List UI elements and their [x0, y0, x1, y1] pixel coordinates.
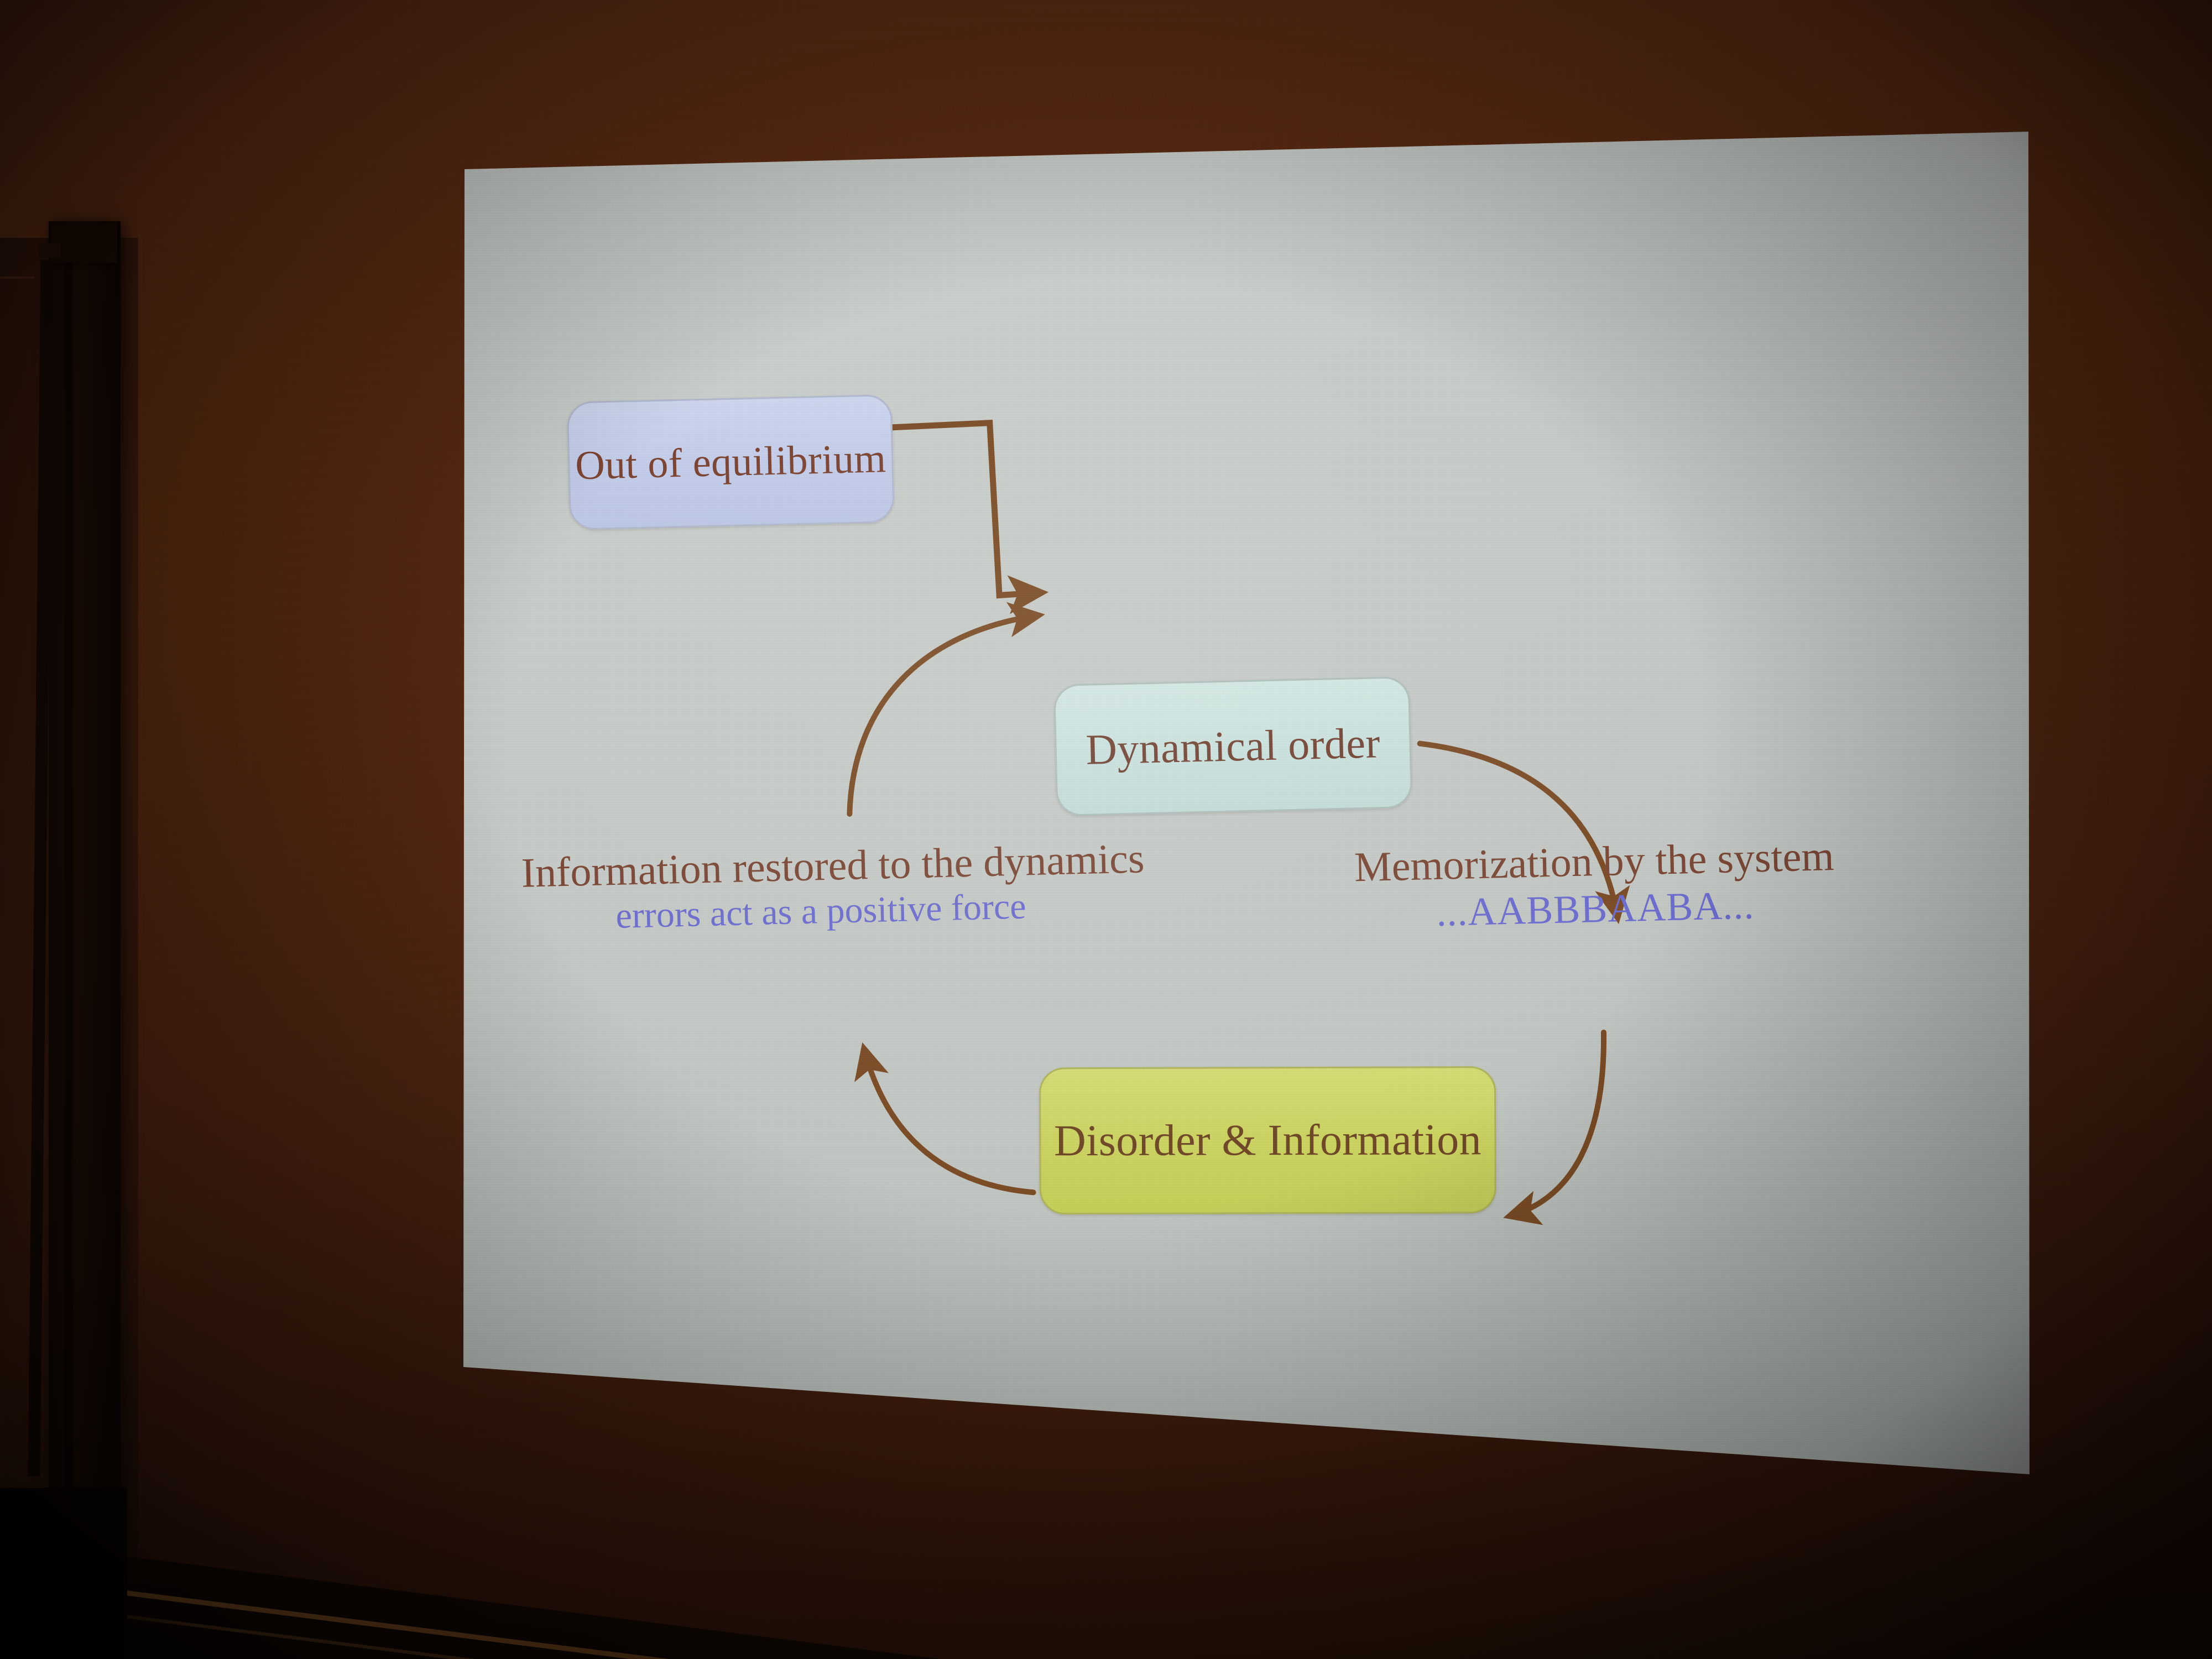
label-memorization: Memorization by the system ...AABBBAABA.… — [1301, 831, 1889, 938]
wall-bracket — [51, 224, 117, 263]
node-out-of-equilibrium[interactable]: Out of equilibrium — [567, 394, 895, 530]
arrow-curve-info-restored-to-dynamical — [845, 615, 1043, 814]
node-disorder-information-label: Disorder & Information — [1054, 1115, 1481, 1166]
left-dark-column — [49, 221, 121, 1559]
wall-bracket-arm — [39, 243, 61, 258]
slide-content: Out of equilibrium Dynamical order Disor… — [444, 109, 2049, 1495]
arrow-elbow-equilibrium-to-dynamical — [890, 422, 1041, 598]
screenshot-stage: Out of equilibrium Dynamical order Disor… — [0, 0, 2212, 1659]
label-information-restored: Information restored to the dynamics err… — [521, 835, 1120, 938]
node-out-of-equilibrium-label: Out of equilibrium — [575, 435, 886, 489]
projection-screen: Out of equilibrium Dynamical order Disor… — [459, 127, 2035, 1482]
node-disorder-information[interactable]: Disorder & Information — [1039, 1066, 1496, 1214]
node-dynamical-order-label: Dynamical order — [1085, 718, 1380, 775]
left-rail-lower — [64, 260, 73, 1504]
desk-left-block — [0, 1488, 127, 1659]
node-dynamical-order[interactable]: Dynamical order — [1053, 676, 1412, 816]
wall-edge-line — [0, 276, 34, 279]
arrow-curve-disorder-to-info-restored — [864, 1045, 1033, 1196]
arrow-curve-memorization-to-disorder — [1505, 1032, 1608, 1216]
